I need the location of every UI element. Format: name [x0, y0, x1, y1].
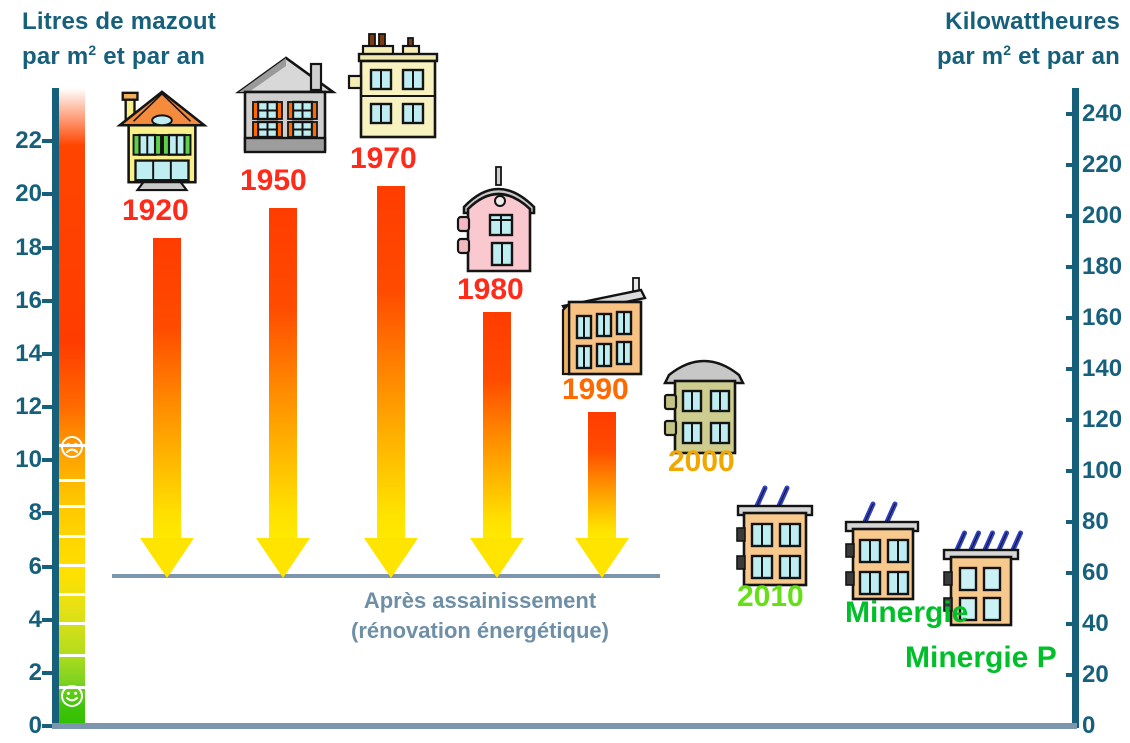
house-illustration-1920	[103, 84, 221, 192]
arrow-head	[140, 538, 194, 578]
energy-class-gradient-bar	[59, 88, 85, 726]
right-axis-tick	[1066, 214, 1079, 218]
chart-baseline	[52, 723, 1077, 729]
right-axis-tick	[1066, 163, 1079, 167]
building-label-1950: 1950	[240, 166, 307, 196]
left-axis-title-line2: par m2 et par an	[22, 36, 216, 71]
right-axis-tick-label: 200	[1082, 204, 1130, 228]
left-axis-title: Litres de mazout par m2 et par an	[22, 8, 216, 71]
left-axis-tick	[42, 405, 55, 409]
renovation-caption-line2: (rénovation énergétique)	[270, 616, 690, 646]
building-label-minergiep: Minergie P	[905, 643, 1057, 673]
right-axis-tick	[1066, 316, 1079, 320]
right-axis-tick	[1066, 367, 1079, 371]
left-axis-tick-label: 2	[0, 661, 42, 685]
left-axis-tick	[42, 511, 55, 515]
right-axis-tick-label: 20	[1082, 663, 1130, 687]
right-axis-title: Kilowattheures par m2 et par an	[937, 8, 1120, 71]
renovation-arrow-1980	[470, 312, 524, 578]
building-label-1990: 1990	[562, 375, 629, 405]
left-axis-tick-label: 14	[0, 342, 42, 366]
arrow-shaft	[483, 312, 511, 538]
renovation-arrow-1920	[140, 238, 194, 578]
right-axis-tick	[1066, 520, 1079, 524]
renovation-caption-line1: Après assainissement	[270, 586, 690, 616]
left-axis-title-line1: Litres de mazout	[22, 8, 216, 36]
renovation-arrow-1990	[575, 412, 629, 578]
right-axis-line	[1072, 88, 1079, 728]
left-axis-tick-label: 10	[0, 448, 42, 472]
left-axis-tick	[42, 352, 55, 356]
right-axis-title-line1: Kilowattheures	[937, 8, 1120, 36]
energy-band-separator	[59, 564, 85, 567]
right-axis-tick	[1066, 622, 1079, 626]
arrow-head	[364, 538, 418, 578]
left-axis-tick	[42, 192, 55, 196]
building-label-1970: 1970	[350, 144, 417, 174]
house-illustration-1990	[553, 272, 659, 378]
right-axis-tick-label: 140	[1082, 357, 1130, 381]
house-illustration-2000	[655, 345, 753, 457]
energy-band-separator	[59, 593, 85, 596]
renovation-arrow-1970	[364, 186, 418, 578]
right-axis-tick-label: 120	[1082, 408, 1130, 432]
left-axis-tick-label: 0	[0, 714, 42, 738]
house-illustration-1970	[345, 28, 453, 148]
left-axis-tick	[42, 671, 55, 675]
arrow-head	[575, 538, 629, 578]
house-illustration-1950	[231, 52, 341, 167]
right-axis-tick-label: 180	[1082, 255, 1130, 279]
right-axis-tick-label: 240	[1082, 102, 1130, 126]
right-axis-tick-label: 40	[1082, 612, 1130, 636]
left-axis-tick	[42, 139, 55, 143]
left-axis-tick	[42, 458, 55, 462]
left-axis-tick-label: 4	[0, 608, 42, 632]
right-axis-tick	[1066, 112, 1079, 116]
building-label-minergie: Minergie	[845, 598, 968, 628]
right-axis-tick-label: 160	[1082, 306, 1130, 330]
energy-band-separator	[59, 535, 85, 538]
right-axis-tick	[1066, 673, 1079, 677]
smiley-sad-icon	[60, 435, 84, 459]
arrow-shaft	[588, 412, 616, 538]
right-axis-tick	[1066, 469, 1079, 473]
building-label-1920: 1920	[122, 196, 189, 226]
right-axis-title-line2: par m2 et par an	[937, 36, 1120, 71]
left-axis-tick-label: 12	[0, 395, 42, 419]
right-axis-tick-label: 0	[1082, 714, 1130, 738]
house-illustration-minergie	[840, 500, 924, 600]
right-axis-tick-label: 80	[1082, 510, 1130, 534]
energy-band-separator	[59, 622, 85, 625]
house-illustration-1980	[448, 163, 550, 281]
energy-band-separator	[59, 654, 85, 657]
arrow-head	[256, 538, 310, 578]
left-axis-tick-label: 20	[0, 182, 42, 206]
arrow-shaft	[377, 186, 405, 538]
left-axis-tick-label: 18	[0, 236, 42, 260]
left-axis-tick	[42, 246, 55, 250]
right-axis-tick	[1066, 418, 1079, 422]
left-axis-tick-label: 8	[0, 501, 42, 525]
left-axis-tick	[42, 299, 55, 303]
arrow-head	[470, 538, 524, 578]
right-axis-tick	[1066, 571, 1079, 575]
left-axis-tick	[42, 565, 55, 569]
building-label-2010: 2010	[737, 582, 804, 612]
right-axis-tick-label: 100	[1082, 459, 1130, 483]
right-axis-tick-label: 60	[1082, 561, 1130, 585]
energy-band-separator	[59, 479, 85, 482]
smiley-happy-icon	[60, 684, 84, 708]
arrow-shaft	[269, 208, 297, 538]
renovation-caption: Après assainissement (rénovation énergét…	[270, 586, 690, 646]
house-illustration-2010	[730, 482, 818, 587]
building-label-2000: 2000	[668, 447, 735, 477]
building-label-1980: 1980	[457, 275, 524, 305]
energy-band-separator	[59, 505, 85, 508]
left-axis-tick-label: 22	[0, 129, 42, 153]
right-axis-tick	[1066, 265, 1079, 269]
left-axis-tick-label: 6	[0, 555, 42, 579]
left-axis-tick-label: 16	[0, 289, 42, 313]
renovation-arrow-1950	[256, 208, 310, 578]
right-axis-tick-label: 220	[1082, 153, 1130, 177]
arrow-shaft	[153, 238, 181, 538]
left-axis-tick	[42, 618, 55, 622]
